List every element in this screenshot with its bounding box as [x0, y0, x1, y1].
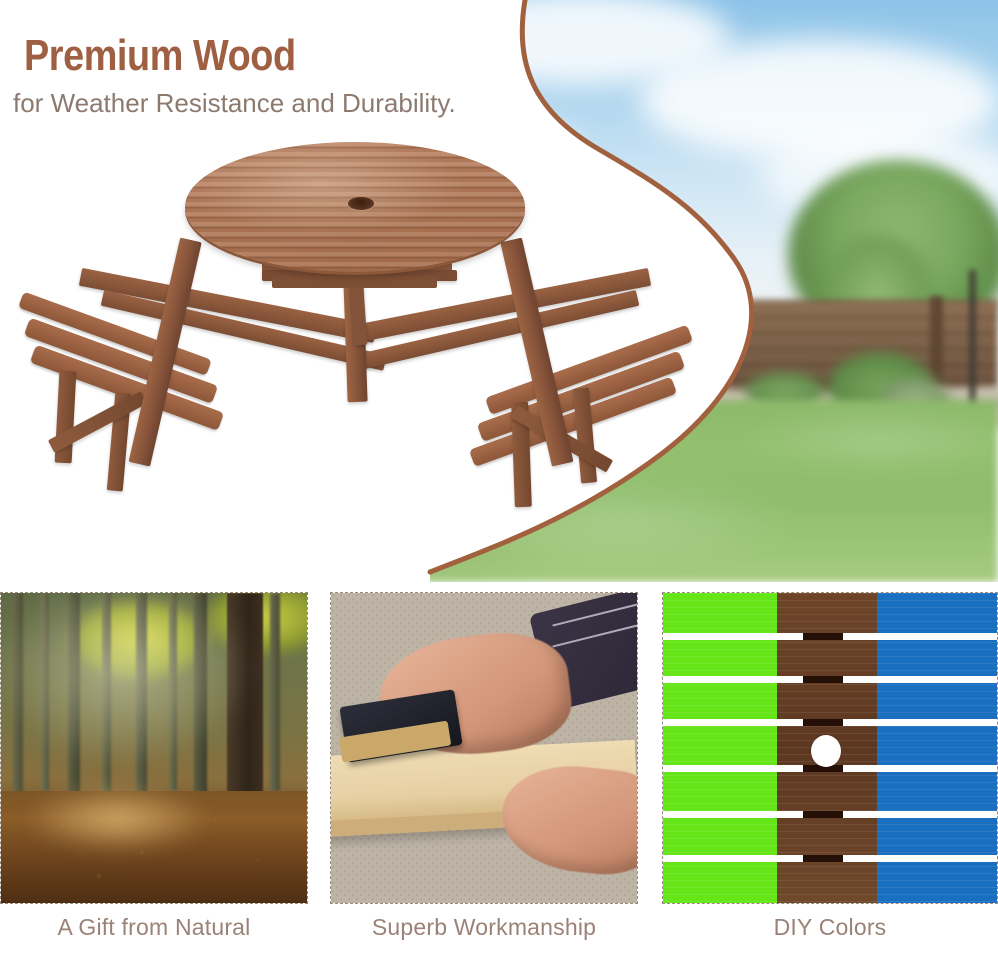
panel-workmanship: [330, 592, 638, 904]
caption-forest: A Gift from Natural: [0, 914, 308, 941]
umbrella-hole: [811, 735, 841, 767]
forest-haze: [1, 593, 307, 785]
umbrella-hole: [348, 197, 374, 210]
bench-right: [465, 280, 715, 530]
plank-gap-shadow: [803, 676, 843, 683]
plank-gap-shadow: [803, 855, 843, 862]
caption-diy-colors: DIY Colors: [662, 914, 998, 941]
table-apron-lower: [272, 276, 437, 288]
panel-forest: [0, 592, 308, 904]
caption-workmanship: Superb Workmanship: [330, 914, 638, 941]
feature-panels: A Gift from Natural Superb Workmanship D…: [0, 592, 998, 968]
plank-gap-shadow: [803, 719, 843, 726]
leaf-litter-texture: [1, 791, 307, 903]
hero-section: Premium Wood for Weather Resistance and …: [0, 0, 998, 582]
bench-leg: [573, 387, 597, 483]
round-tabletop: [185, 142, 525, 272]
page-subtitle: for Weather Resistance and Durability.: [13, 88, 456, 119]
plank-gap-shadow: [803, 633, 843, 640]
page-title: Premium Wood: [24, 31, 296, 81]
panel-diy-colors: [662, 592, 998, 904]
forest-image: [1, 593, 307, 903]
picnic-table-illustration: [0, 120, 720, 580]
plank-gap-shadow: [803, 811, 843, 818]
product-infographic: Premium Wood for Weather Resistance and …: [0, 0, 998, 968]
